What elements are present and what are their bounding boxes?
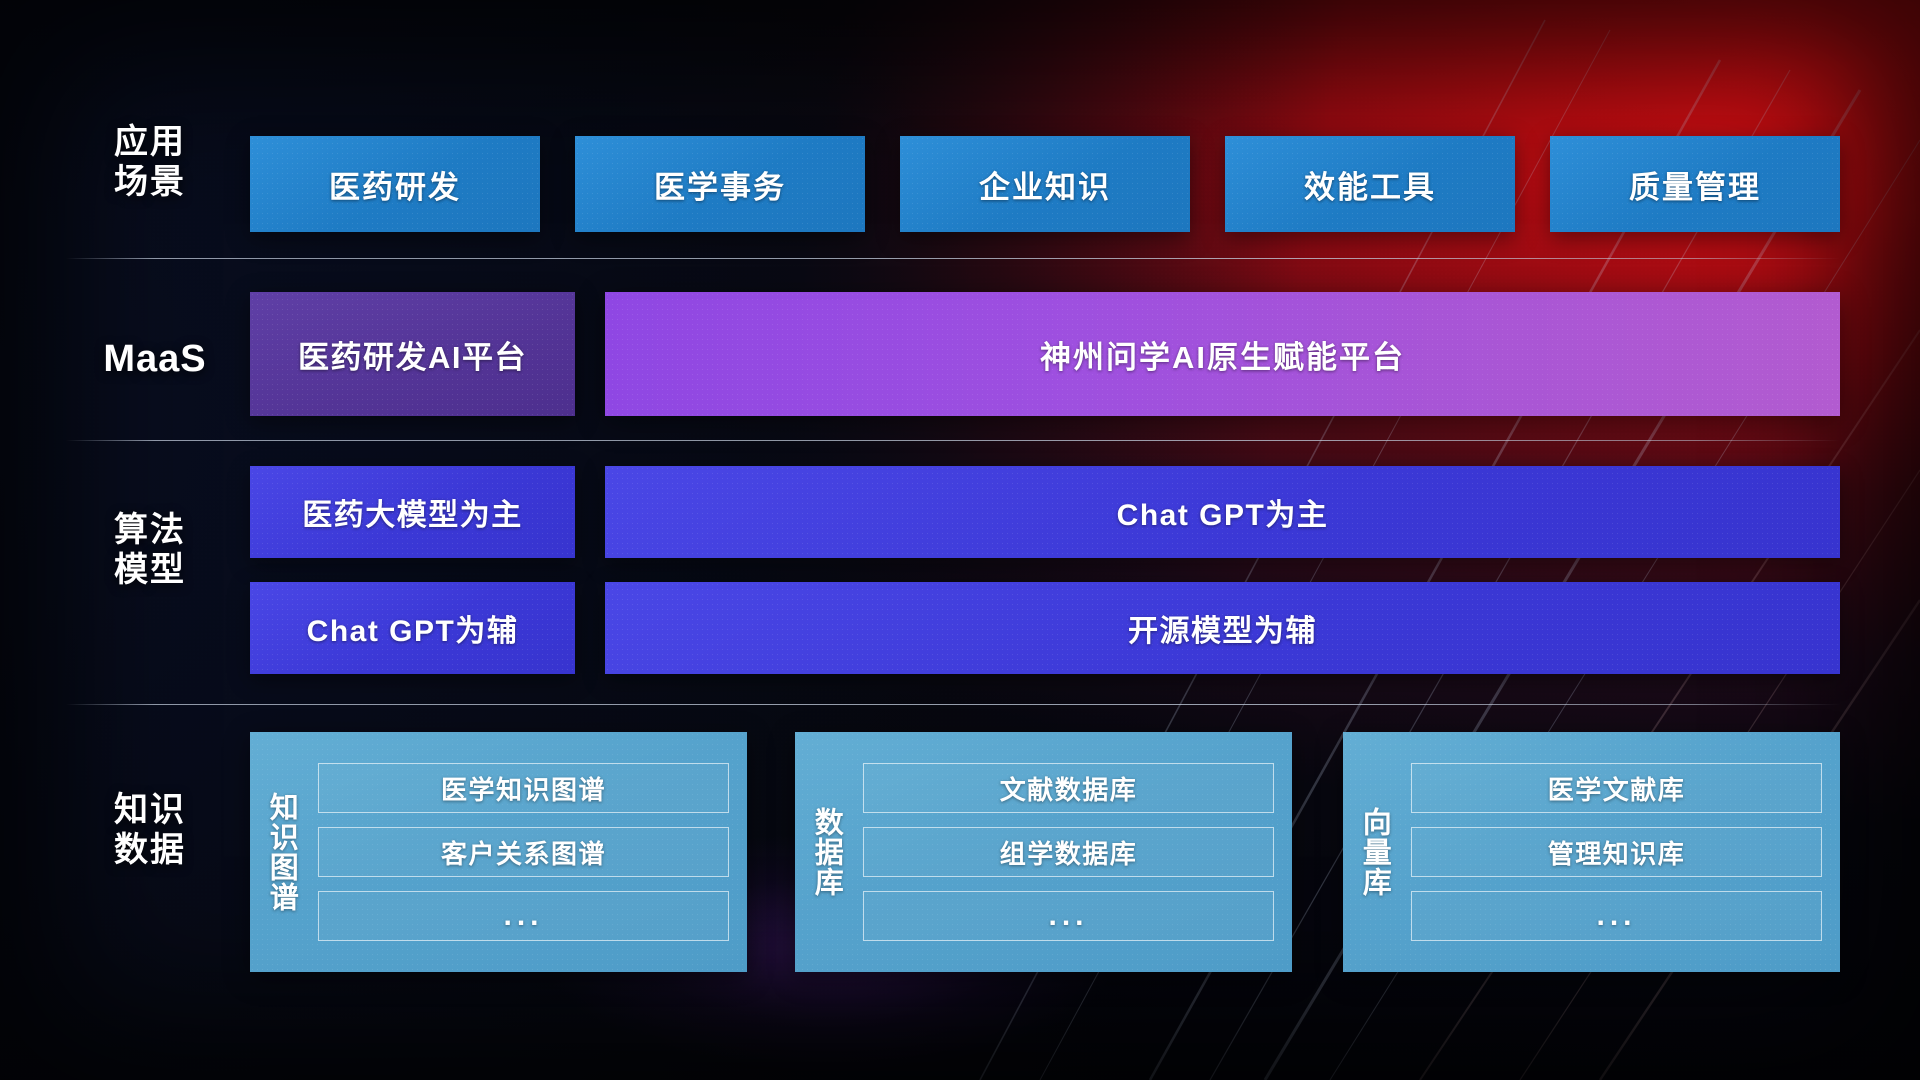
knowledge-chip-label: 文献数据库 <box>1000 770 1138 807</box>
model-box-chatgpt-primary[interactable]: Chat GPT为主 <box>605 466 1840 558</box>
knowledge-chip-omics-database[interactable]: 组学数据库 <box>863 827 1274 877</box>
scenario-box-label: 企业知识 <box>979 162 1111 207</box>
model-box-label: 开源模型为辅 <box>1128 606 1317 650</box>
knowledge-chip-medical-literature-library[interactable]: 医学文献库 <box>1411 763 1822 813</box>
knowledge-group-items: 医学知识图谱 客户关系图谱 ... <box>312 732 747 972</box>
scenario-box-drug-rd[interactable]: 医药研发 <box>250 136 540 232</box>
knowledge-chip-label: ... <box>503 899 543 933</box>
model-box-chatgpt-secondary[interactable]: Chat GPT为辅 <box>250 582 575 674</box>
knowledge-chip-label: 医学文献库 <box>1548 770 1686 807</box>
knowledge-group-database: 数据库 文献数据库 组学数据库 ... <box>795 732 1292 972</box>
tier-label-maas: MaaS <box>70 337 240 382</box>
knowledge-chip-label: ... <box>1048 899 1088 933</box>
knowledge-chip-label: ... <box>1596 899 1636 933</box>
tier-label-line: 算法 <box>90 510 210 550</box>
maas-box-label: 医药研发AI平台 <box>298 332 527 377</box>
scenario-box-efficiency-tools[interactable]: 效能工具 <box>1225 136 1515 232</box>
knowledge-chip-literature-database[interactable]: 文献数据库 <box>863 763 1274 813</box>
knowledge-chip-management-knowledge-base[interactable]: 管理知识库 <box>1411 827 1822 877</box>
knowledge-chip-medical-knowledge-graph[interactable]: 医学知识图谱 <box>318 763 729 813</box>
tier-label-knowledge-data: 知识 数据 <box>90 790 210 870</box>
model-box-label: Chat GPT为辅 <box>307 606 519 650</box>
knowledge-group-items: 医学文献库 管理知识库 ... <box>1405 732 1840 972</box>
model-box-label: 医药大模型为主 <box>302 490 523 534</box>
scenario-box-label: 医药研发 <box>329 162 461 207</box>
tier-label-line: MaaS <box>70 337 240 382</box>
maas-box-label: 神州问学AI原生赋能平台 <box>1040 332 1405 377</box>
maas-box-pharma-ai-platform[interactable]: 医药研发AI平台 <box>250 292 575 416</box>
knowledge-group-items: 文献数据库 组学数据库 ... <box>857 732 1292 972</box>
tier-label-line: 场景 <box>90 162 210 202</box>
knowledge-group-title: 知识图谱 <box>250 732 312 972</box>
knowledge-chip-label: 组学数据库 <box>1000 834 1138 871</box>
knowledge-chip-label: 管理知识库 <box>1548 834 1686 871</box>
tier-label-line: 应用 <box>90 122 210 162</box>
knowledge-chip-label: 客户关系图谱 <box>441 834 606 871</box>
knowledge-chip-more[interactable]: ... <box>318 891 729 941</box>
model-box-label: Chat GPT为主 <box>1117 490 1329 534</box>
scenario-box-label: 效能工具 <box>1304 162 1436 207</box>
scenario-box-enterprise-knowledge[interactable]: 企业知识 <box>900 136 1190 232</box>
tier-label-line: 知识 <box>90 790 210 830</box>
architecture-diagram: 应用 场景 医药研发 医学事务 企业知识 效能工具 质量管理 MaaS 医药研发… <box>0 0 1920 1080</box>
knowledge-chip-customer-relation-graph[interactable]: 客户关系图谱 <box>318 827 729 877</box>
divider-tier3-tier4 <box>66 704 1840 705</box>
maas-box-shenzhou-wenxue-platform[interactable]: 神州问学AI原生赋能平台 <box>605 292 1840 416</box>
scenario-box-medical-affairs[interactable]: 医学事务 <box>575 136 865 232</box>
knowledge-group-title: 数据库 <box>795 732 857 972</box>
scenario-box-label: 质量管理 <box>1629 162 1761 207</box>
knowledge-chip-label: 医学知识图谱 <box>441 770 606 807</box>
divider-tier1-tier2 <box>66 258 1840 259</box>
divider-tier2-tier3 <box>66 440 1840 441</box>
scenario-box-quality-management[interactable]: 质量管理 <box>1550 136 1840 232</box>
model-box-opensource-secondary[interactable]: 开源模型为辅 <box>605 582 1840 674</box>
knowledge-group-knowledge-graph: 知识图谱 医学知识图谱 客户关系图谱 ... <box>250 732 747 972</box>
tier-label-algorithm-model: 算法 模型 <box>90 510 210 590</box>
knowledge-group-vector-database: 向量库 医学文献库 管理知识库 ... <box>1343 732 1840 972</box>
knowledge-group-title: 向量库 <box>1343 732 1405 972</box>
model-box-pharma-llm-primary[interactable]: 医药大模型为主 <box>250 466 575 558</box>
scenario-box-label: 医学事务 <box>654 162 786 207</box>
knowledge-chip-more[interactable]: ... <box>863 891 1274 941</box>
knowledge-chip-more[interactable]: ... <box>1411 891 1822 941</box>
tier-label-application-scenarios: 应用 场景 <box>90 122 210 202</box>
tier-label-line: 数据 <box>90 830 210 870</box>
tier-label-line: 模型 <box>90 550 210 590</box>
